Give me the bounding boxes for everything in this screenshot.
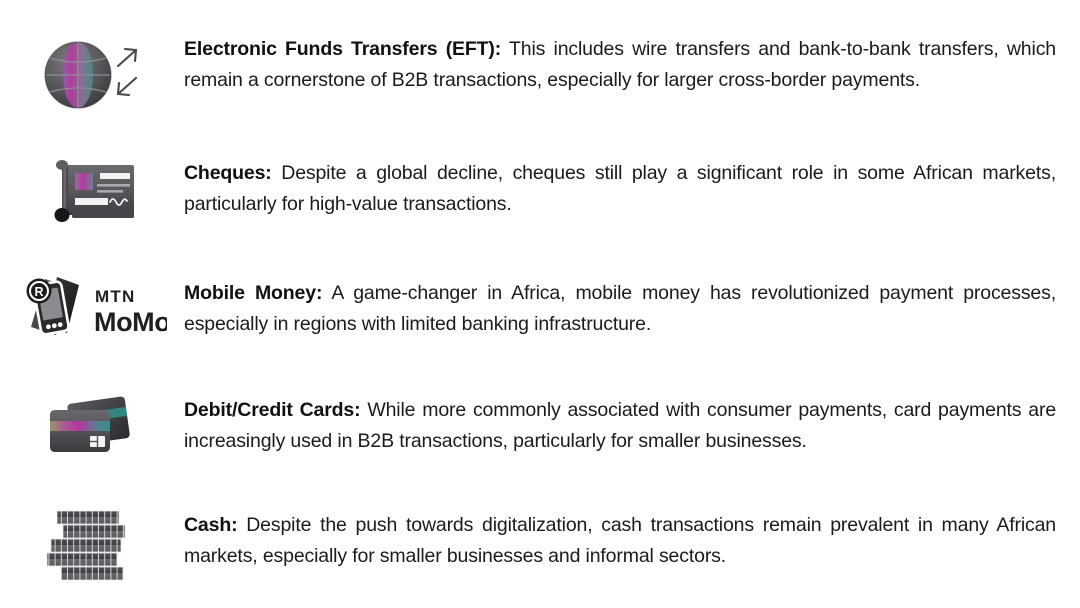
- momo-icon-cell: R MTN MoMo: [0, 268, 184, 348]
- cheque-icon: [44, 153, 140, 229]
- cards-text-cell: Debit/Credit Cards: While more commonly …: [184, 385, 1080, 457]
- cash-lead: Cash:: [184, 514, 237, 536]
- momo-text-cell: Mobile Money: A game-changer in Africa, …: [184, 268, 1080, 340]
- globe-transfer-icon: [42, 34, 142, 114]
- cheques-icon-cell: [0, 148, 184, 234]
- cards-paragraph: Debit/Credit Cards: While more commonly …: [184, 395, 1056, 457]
- cards-lead: Debit/Credit Cards:: [184, 399, 360, 421]
- cash-stacks-icon: [37, 503, 147, 589]
- cash-icon-cell: [0, 498, 184, 594]
- cash-text-cell: Cash: Despite the push towards digitaliz…: [184, 498, 1080, 572]
- list-item: Debit/Credit Cards: While more commonly …: [0, 385, 1080, 471]
- list-item: Cash: Despite the push towards digitaliz…: [0, 498, 1080, 594]
- momo-logo-line1: MTN: [95, 287, 135, 306]
- cheques-body: Despite a global decline, cheques still …: [184, 162, 1056, 215]
- momo-logo-line2: MoMo: [94, 307, 167, 337]
- credit-card-icon: [42, 390, 142, 466]
- cash-paragraph: Cash: Despite the push towards digitaliz…: [184, 510, 1056, 572]
- cash-body: Despite the push towards digitalization,…: [184, 514, 1056, 567]
- list-item: Cheques: Despite a global decline, chequ…: [0, 148, 1080, 234]
- momo-paragraph: Mobile Money: A game-changer in Africa, …: [184, 278, 1056, 340]
- payment-methods-page: Electronic Funds Transfers (EFT): This i…: [0, 0, 1080, 608]
- eft-paragraph: Electronic Funds Transfers (EFT): This i…: [184, 34, 1056, 96]
- eft-text-cell: Electronic Funds Transfers (EFT): This i…: [184, 28, 1080, 96]
- svg-text:R: R: [34, 285, 43, 299]
- momo-lead: Mobile Money:: [184, 282, 322, 304]
- mtn-momo-logo: R MTN MoMo: [17, 271, 167, 345]
- cards-icon-cell: [0, 385, 184, 471]
- cheques-paragraph: Cheques: Despite a global decline, chequ…: [184, 158, 1056, 220]
- eft-lead: Electronic Funds Transfers (EFT):: [184, 38, 501, 60]
- eft-icon-cell: [0, 28, 184, 120]
- cheques-text-cell: Cheques: Despite a global decline, chequ…: [184, 148, 1080, 220]
- list-item: Electronic Funds Transfers (EFT): This i…: [0, 28, 1080, 120]
- list-item: R MTN MoMo Mobile Money: A game-changer …: [0, 268, 1080, 348]
- cheques-lead: Cheques:: [184, 162, 272, 184]
